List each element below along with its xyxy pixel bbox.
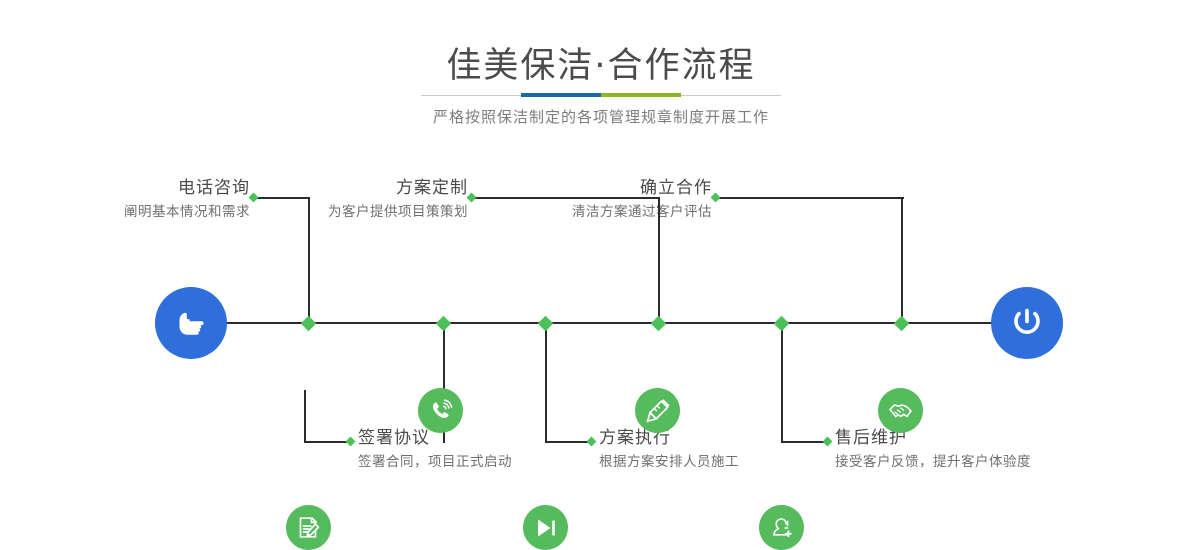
divider-rule-right	[681, 95, 781, 96]
step-icon-circle-6[interactable]	[759, 505, 804, 550]
label-diamond-5	[711, 193, 721, 203]
divider-rule-left	[421, 95, 521, 96]
flow-end-node[interactable]	[991, 287, 1063, 359]
step-icon-circle-2[interactable]	[286, 505, 331, 550]
connector-vertical-1	[308, 197, 310, 323]
connector-vertical-3	[658, 197, 660, 323]
axis-diamond-2	[436, 316, 452, 332]
axis-diamond-5	[774, 316, 790, 332]
connector-vertical-5	[901, 197, 903, 323]
connector-horizontal-6	[781, 441, 827, 443]
connector-horizontal-5	[716, 197, 904, 199]
divider-segment-blue	[521, 93, 601, 97]
connector-horizontal-3	[472, 197, 660, 199]
step-label-6: 售后维护 接受客户反馈，提升客户体验度	[835, 428, 1085, 472]
step-title-6: 售后维护	[835, 428, 1085, 448]
label-diamond-2	[346, 437, 356, 447]
step-label-5: 确立合作 清洁方案通过客户评估	[492, 178, 712, 222]
document-edit-icon	[296, 515, 321, 540]
page-subtitle: 严格按照保洁制定的各项管理规章制度开展工作	[0, 106, 1202, 127]
step-icon-circle-5[interactable]	[878, 388, 923, 433]
step-label-1: 电话咨询 阐明基本情况和需求	[30, 178, 250, 222]
step-desc-4: 根据方案安排人员施工	[599, 452, 829, 472]
step-desc-2: 签署合同，项目正式启动	[358, 452, 588, 472]
step-icon-circle-3[interactable]	[635, 388, 680, 433]
pointing-hand-icon	[171, 303, 211, 343]
page-header: 佳美保洁·合作流程 严格按照保洁制定的各项管理规章制度开展工作	[0, 0, 1202, 150]
step-title-4: 方案执行	[599, 428, 829, 448]
step-desc-3: 为客户提供项目策策划	[248, 202, 468, 222]
step-label-2: 签署协议 签署合同，项目正式启动	[358, 428, 588, 472]
connector-horizontal-2	[304, 441, 350, 443]
connector-vertical-6	[781, 322, 783, 443]
process-flow-diagram: 电话咨询 阐明基本情况和需求 签署协议 签署合同，项目正式启动	[0, 150, 1202, 502]
step-desc-6: 接受客户反馈，提升客户体验度	[835, 452, 1085, 472]
title-divider	[421, 93, 781, 97]
axis-diamond-5b	[894, 316, 910, 332]
axis-diamond-3b	[651, 316, 667, 332]
connector-vertical-2b	[304, 390, 306, 443]
step-title-2: 签署协议	[358, 428, 588, 448]
power-icon	[1006, 302, 1048, 344]
axis-diamond-3	[538, 316, 554, 332]
step-icon-circle-4[interactable]	[523, 505, 568, 550]
connector-vertical-4	[545, 322, 547, 443]
step-desc-5: 清洁方案通过客户评估	[492, 202, 712, 222]
flow-start-node[interactable]	[155, 287, 227, 359]
step-desc-1: 阐明基本情况和需求	[30, 202, 250, 222]
step-label-4: 方案执行 根据方案安排人员施工	[599, 428, 829, 472]
step-icon-circle-1[interactable]	[418, 388, 463, 433]
connector-horizontal-1	[254, 197, 310, 199]
step-title-3: 方案定制	[248, 178, 468, 198]
label-diamond-3	[467, 193, 477, 203]
phone-ringing-icon	[428, 398, 454, 424]
divider-segment-green	[601, 93, 681, 97]
page-title: 佳美保洁·合作流程	[0, 37, 1202, 88]
pencil-ruler-icon	[645, 398, 671, 424]
step-title-1: 电话咨询	[30, 178, 250, 198]
axis-diamond-1	[301, 316, 317, 332]
headset-add-icon	[769, 515, 795, 541]
play-skip-icon	[533, 515, 559, 541]
step-label-3: 方案定制 为客户提供项目策策划	[248, 178, 468, 222]
handshake-icon	[887, 397, 914, 424]
connector-horizontal-4	[545, 441, 591, 443]
label-diamond-4	[587, 437, 597, 447]
step-title-5: 确立合作	[492, 178, 712, 198]
